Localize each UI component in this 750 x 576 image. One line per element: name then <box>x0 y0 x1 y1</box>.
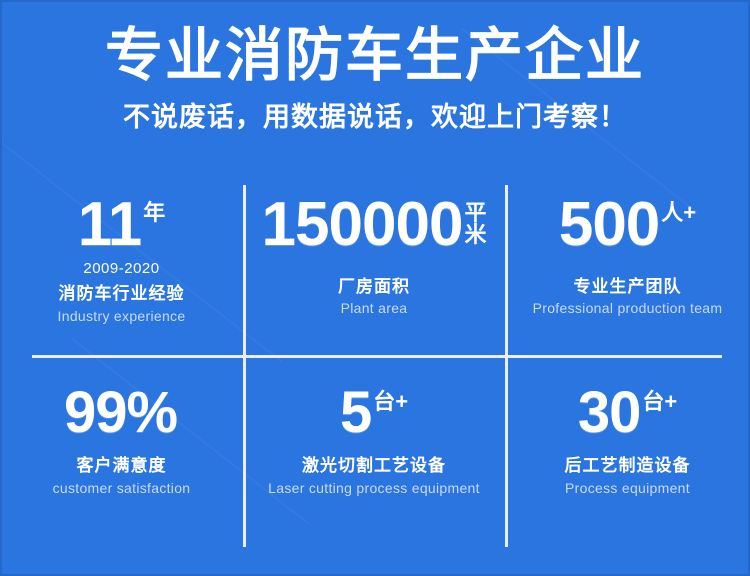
stat-subvalue: 2009-2020 <box>83 261 159 278</box>
stat-label-en: customer satisfaction <box>53 480 191 496</box>
stat-value-line: 30 台+ <box>578 385 677 440</box>
stat-value-line: 99% <box>64 385 179 440</box>
stat-cell-industry-experience: 11 年 2009-2020 消防车行业经验 Industry experien… <box>0 180 243 357</box>
promo-poster: 专业消防车生产企业 不说废话，用数据说话，欢迎上门考察！ 11 年 2009-2… <box>0 0 750 576</box>
page-title: 专业消防车生产企业 <box>0 0 750 89</box>
stat-value-line: 11 年 <box>78 196 166 255</box>
stat-label-en: Professional production team <box>533 300 723 316</box>
stat-label-en: Plant area <box>341 300 408 316</box>
stat-value: 500 <box>559 196 659 255</box>
stat-value-line: 150000 平 米 <box>262 196 487 255</box>
stat-unit: 台+ <box>373 385 408 413</box>
stat-value: 99% <box>64 385 177 440</box>
stat-label-cn: 专业生产团队 <box>574 277 682 297</box>
stat-label-en: Process equipment <box>565 480 690 496</box>
poster-header: 专业消防车生产企业 不说废话，用数据说话，欢迎上门考察！ <box>0 0 750 133</box>
stat-unit: 人+ <box>661 196 696 224</box>
stat-unit: 平 米 <box>464 196 486 247</box>
stat-value: 11 <box>78 196 142 255</box>
stat-label-cn: 消防车行业经验 <box>59 284 185 304</box>
stat-label-en: Industry experience <box>58 308 186 324</box>
stats-grid: 11 年 2009-2020 消防车行业经验 Industry experien… <box>0 180 750 560</box>
stat-value-line: 5 台+ <box>340 385 408 440</box>
stat-value: 150000 <box>262 196 463 255</box>
stat-label-cn: 厂房面积 <box>338 277 410 297</box>
stat-label-en: Laser cutting process equipment <box>268 480 480 496</box>
stat-cell-customer-satisfaction: 99% 客户满意度 customer satisfaction <box>0 357 243 547</box>
stat-cell-process-equipment: 30 台+ 后工艺制造设备 Process equipment <box>505 357 750 547</box>
stat-cell-plant-area: 150000 平 米 厂房面积 Plant area <box>243 180 505 357</box>
stat-value: 30 <box>578 385 641 440</box>
stat-label-cn: 激光切割工艺设备 <box>302 456 446 476</box>
stat-label-cn: 客户满意度 <box>77 456 167 476</box>
stat-label-cn: 后工艺制造设备 <box>565 456 691 476</box>
stat-unit: 台+ <box>642 385 677 413</box>
stat-value: 5 <box>340 385 371 440</box>
stat-value-line: 500 人+ <box>559 196 696 255</box>
stat-unit: 年 <box>143 196 165 224</box>
stat-cell-production-team: 500 人+ 专业生产团队 Professional production te… <box>505 180 750 357</box>
stat-cell-laser-cutting: 5 台+ 激光切割工艺设备 Laser cutting process equi… <box>243 357 505 547</box>
page-subtitle: 不说废话，用数据说话，欢迎上门考察！ <box>0 89 750 133</box>
